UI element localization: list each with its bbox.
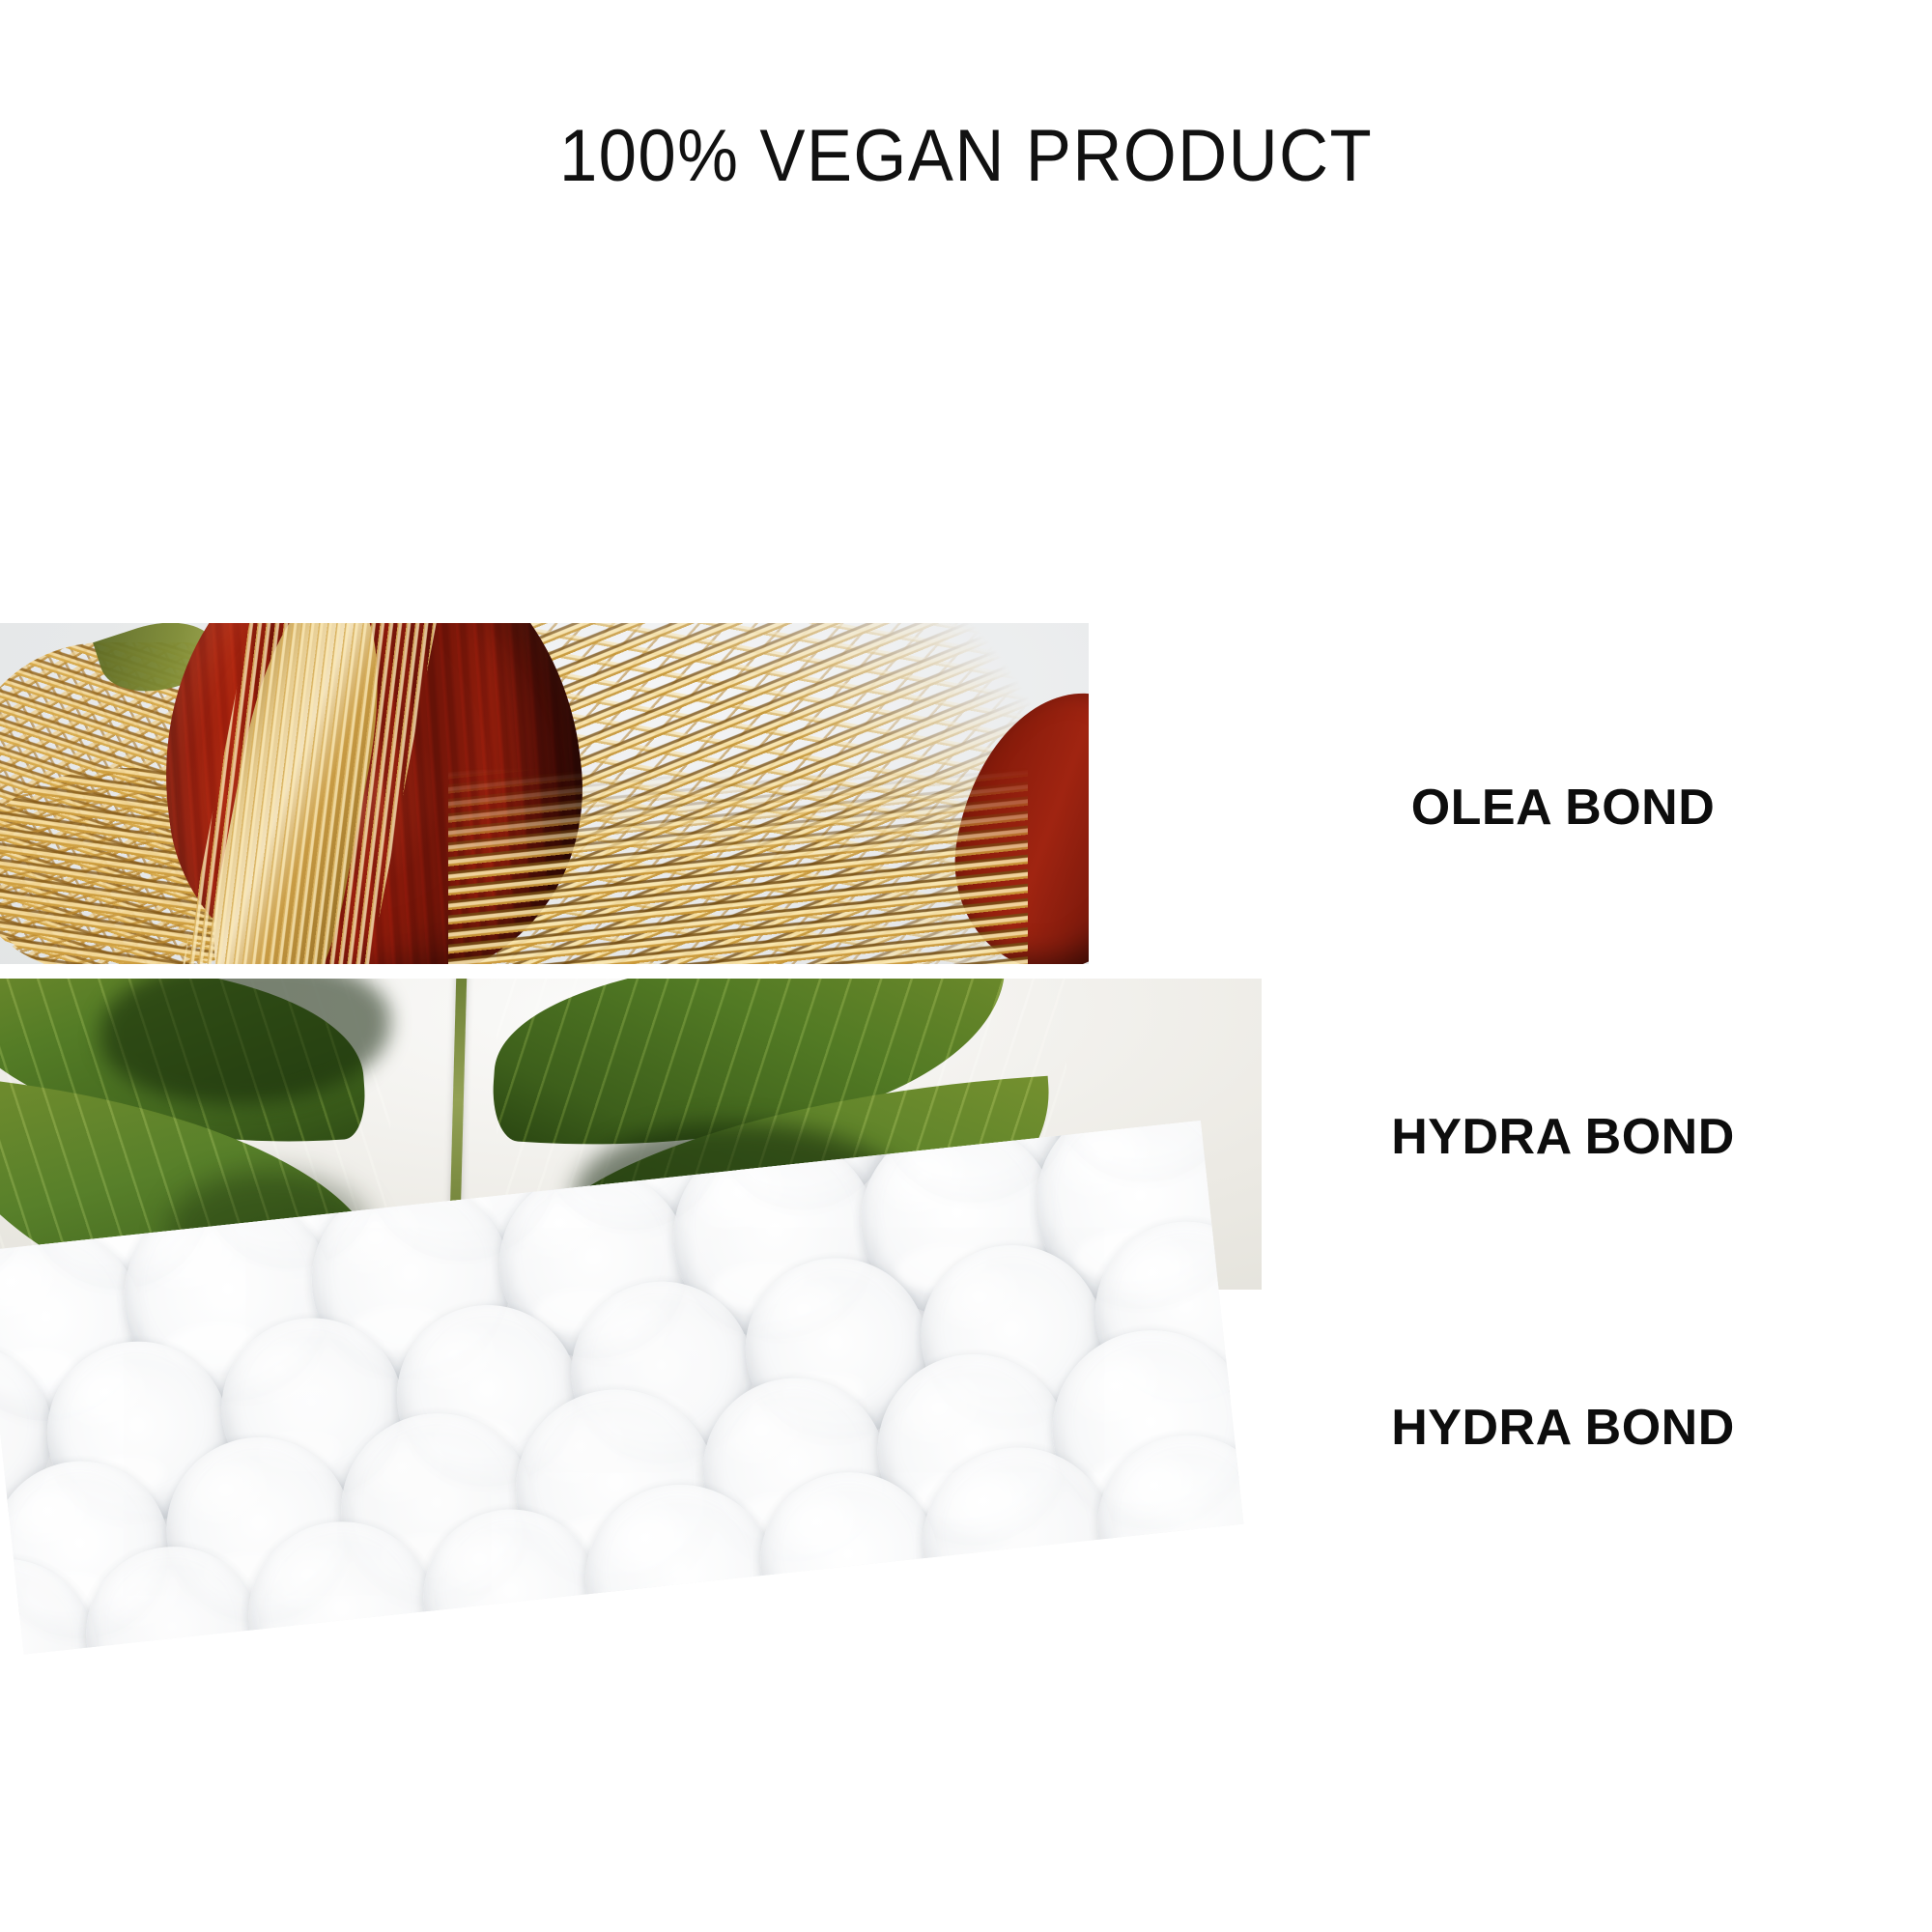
- ingredient-label-olea-bond: OLEA BOND: [1411, 779, 1716, 837]
- ingredient-label-hydra-bond-1: HYDRA BOND: [1391, 1108, 1735, 1166]
- ingredient-label-hydra-bond-2: HYDRA BOND: [1391, 1399, 1735, 1457]
- ingredient-image-chestnut: [0, 623, 1089, 964]
- page-title: 100% VEGAN PRODUCT: [68, 114, 1864, 198]
- chestnut-burr-dense-needles: [448, 768, 1028, 964]
- vegan-product-ingredient-poster: 100% VEGAN PRODUCT OLEA BOND HYDRA BOND: [0, 0, 1932, 1932]
